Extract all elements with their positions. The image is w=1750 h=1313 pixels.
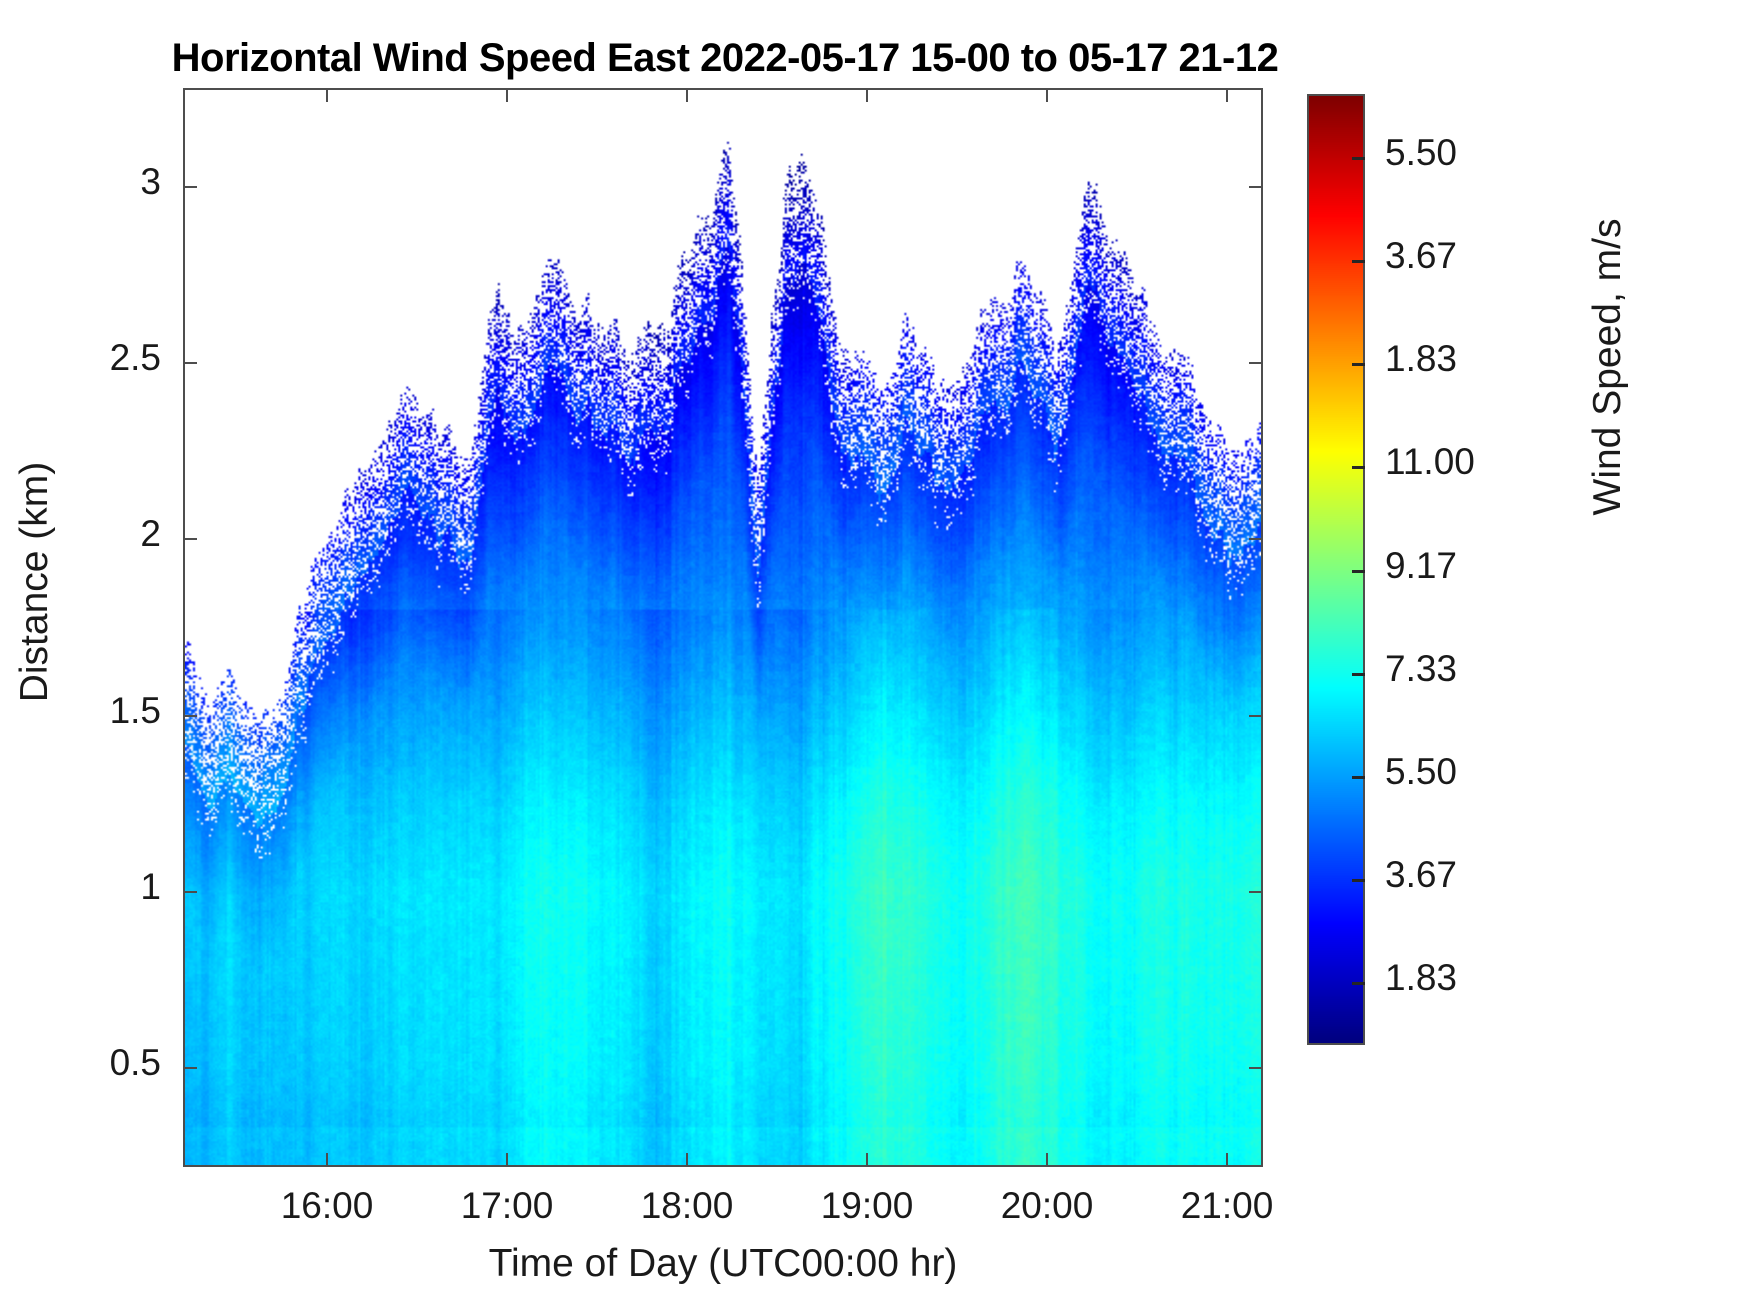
colorbar-tick-mark — [1352, 879, 1365, 882]
x-tick-mark — [1046, 1153, 1048, 1167]
y-tick-mark — [183, 362, 197, 364]
x-tick-mark — [506, 88, 508, 102]
x-tick-label: 19:00 — [767, 1185, 967, 1227]
colorbar-tick-mark — [1352, 570, 1365, 573]
colorbar-tick-mark — [1352, 363, 1365, 366]
y-tick-mark — [183, 1067, 197, 1069]
y-tick-mark — [1249, 1067, 1263, 1069]
colorbar-tick-label: 9.17 — [1385, 545, 1457, 587]
x-tick-mark — [1046, 88, 1048, 102]
colorbar-tick-label: 3.67 — [1385, 854, 1457, 896]
colorbar-tick-mark — [1352, 466, 1365, 469]
x-tick-mark — [1226, 1153, 1228, 1167]
y-tick-mark — [1249, 891, 1263, 893]
y-tick-label: 1 — [140, 866, 161, 908]
colorbar-tick-label: 5.50 — [1385, 132, 1457, 174]
y-tick-mark — [1249, 715, 1263, 717]
x-tick-mark — [1226, 88, 1228, 102]
colorbar-tick-label: 1.83 — [1385, 957, 1457, 999]
y-tick-label: 2.5 — [110, 337, 161, 379]
y-tick-label: 1.5 — [110, 690, 161, 732]
x-tick-mark — [866, 1153, 868, 1167]
colorbar-tick-mark — [1352, 673, 1365, 676]
x-tick-mark — [506, 1153, 508, 1167]
colorbar-tick-mark — [1352, 982, 1365, 985]
colorbar-tick-label: 3.67 — [1385, 235, 1457, 277]
y-tick-mark — [183, 538, 197, 540]
x-tick-mark — [686, 88, 688, 102]
chart-title: Horizontal Wind Speed East 2022-05-17 15… — [0, 36, 1450, 81]
colorbar-tick-mark — [1352, 260, 1365, 263]
figure-canvas: Horizontal Wind Speed East 2022-05-17 15… — [0, 0, 1750, 1313]
heatmap-image — [185, 90, 1261, 1165]
x-tick-label: 17:00 — [407, 1185, 607, 1227]
x-tick-label: 20:00 — [947, 1185, 1147, 1227]
x-tick-mark — [866, 88, 868, 102]
y-tick-label: 0.5 — [110, 1042, 161, 1084]
y-tick-label: 2 — [140, 513, 161, 555]
colorbar-tick-label: 11.00 — [1385, 441, 1475, 483]
y-axis-label: Distance (km) — [13, 352, 57, 812]
x-axis-label: Time of Day (UTC00:00 hr) — [183, 1242, 1263, 1286]
y-tick-label: 3 — [140, 161, 161, 203]
y-tick-mark — [183, 715, 197, 717]
colorbar-tick-label: 7.33 — [1385, 648, 1457, 690]
colorbar-tick-mark — [1352, 776, 1365, 779]
y-tick-mark — [1249, 186, 1263, 188]
colorbar-label: Wind Speed, m/s — [1586, 137, 1630, 597]
y-tick-mark — [1249, 538, 1263, 540]
colorbar-tick-label: 1.83 — [1385, 338, 1457, 380]
x-tick-label: 16:00 — [227, 1185, 427, 1227]
x-tick-label: 21:00 — [1127, 1185, 1327, 1227]
colorbar-tick-mark — [1352, 157, 1365, 160]
x-tick-label: 18:00 — [587, 1185, 787, 1227]
colorbar-tick-label: 5.50 — [1385, 751, 1457, 793]
x-tick-mark — [326, 88, 328, 102]
y-tick-mark — [183, 891, 197, 893]
x-tick-mark — [686, 1153, 688, 1167]
y-tick-mark — [183, 186, 197, 188]
x-tick-mark — [326, 1153, 328, 1167]
heatmap-axes — [183, 88, 1263, 1167]
y-tick-mark — [1249, 362, 1263, 364]
